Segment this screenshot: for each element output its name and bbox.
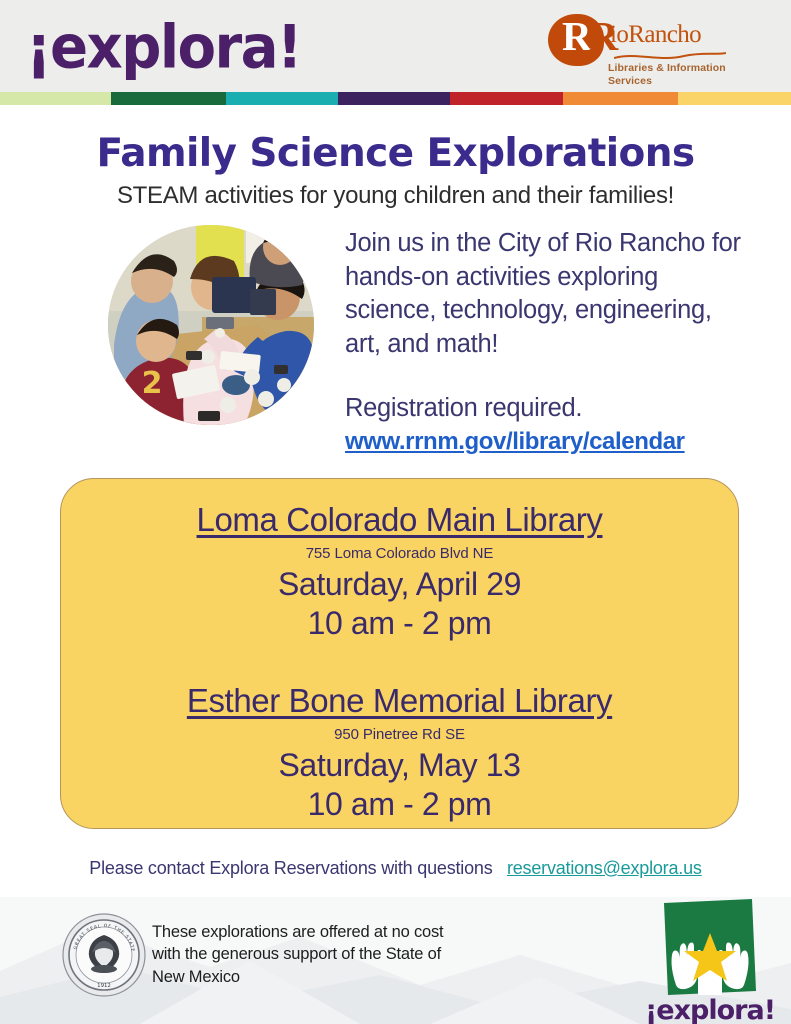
rio-rancho-libraries-logo: RR ioRancho Libraries & Information Serv… — [548, 12, 738, 84]
event-date: Saturday, May 13 — [61, 747, 738, 784]
event-date: Saturday, April 29 — [61, 566, 738, 603]
colorbar-segment-yellow — [678, 92, 791, 105]
brand-color-bar — [0, 92, 791, 105]
state-support-text: These explorations are offered at no cos… — [152, 921, 452, 988]
colorbar-segment-red — [450, 92, 563, 105]
svg-text:¡explora!: ¡explora! — [645, 995, 775, 1024]
rio-rancho-name-label: ioRancho — [610, 21, 701, 49]
events-panel: Loma Colorado Main Library 755 Loma Colo… — [60, 478, 739, 829]
explora-logo-wordmark: ¡explora! — [26, 18, 301, 77]
rio-rancho-rr-letters: RR — [562, 16, 615, 57]
colorbar-segment-dark-green — [111, 92, 226, 105]
children-activity-photo: 2 — [108, 225, 314, 425]
registration-link[interactable]: www.rrnm.gov/library/calendar — [345, 428, 685, 456]
event-block-1: Esther Bone Memorial Library 950 Pinetre… — [61, 682, 738, 823]
colorbar-segment-light-green — [0, 92, 111, 105]
svg-text:1912: 1912 — [97, 983, 111, 989]
page-subtitle: STEAM activities for young children and … — [0, 182, 791, 210]
event-library-name: Loma Colorado Main Library — [61, 501, 738, 539]
event-address: 755 Loma Colorado Blvd NE — [61, 545, 738, 562]
event-time: 10 am - 2 pm — [61, 786, 738, 823]
svg-text:2: 2 — [142, 366, 163, 401]
colorbar-segment-orange — [563, 92, 678, 105]
colorbar-segment-purple — [338, 92, 450, 105]
page-title: Family Science Explorations — [0, 131, 791, 176]
event-library-name: Esther Bone Memorial Library — [61, 682, 738, 720]
contact-line: Please contact Explora Reservations with… — [0, 858, 791, 879]
contact-email-link[interactable]: reservations@explora.us — [507, 858, 702, 878]
event-block-0: Loma Colorado Main Library 755 Loma Colo… — [61, 501, 738, 642]
page-footer: 1912 GREAT SEAL OF THE STATE OF NEW MEXI… — [0, 897, 791, 1024]
registration-note: Registration required. — [345, 394, 745, 423]
contact-prefix: Please contact Explora Reservations with… — [89, 858, 492, 878]
event-address: 950 Pinetree Rd SE — [61, 726, 738, 743]
rio-rancho-subtitle: Libraries & Information Services — [608, 62, 738, 88]
new-mexico-state-seal-icon: 1912 GREAT SEAL OF THE STATE OF NEW MEXI… — [62, 913, 146, 997]
rio-rancho-swoosh-icon — [614, 52, 726, 62]
explora-badge-logo: ¡explora! — [630, 899, 791, 1024]
colorbar-segment-teal — [226, 92, 338, 105]
intro-paragraph: Join us in the City of Rio Rancho for ha… — [345, 227, 745, 362]
event-time: 10 am - 2 pm — [61, 605, 738, 642]
page-header: ¡explora! RR ioRancho Libraries & Inform… — [0, 0, 791, 92]
